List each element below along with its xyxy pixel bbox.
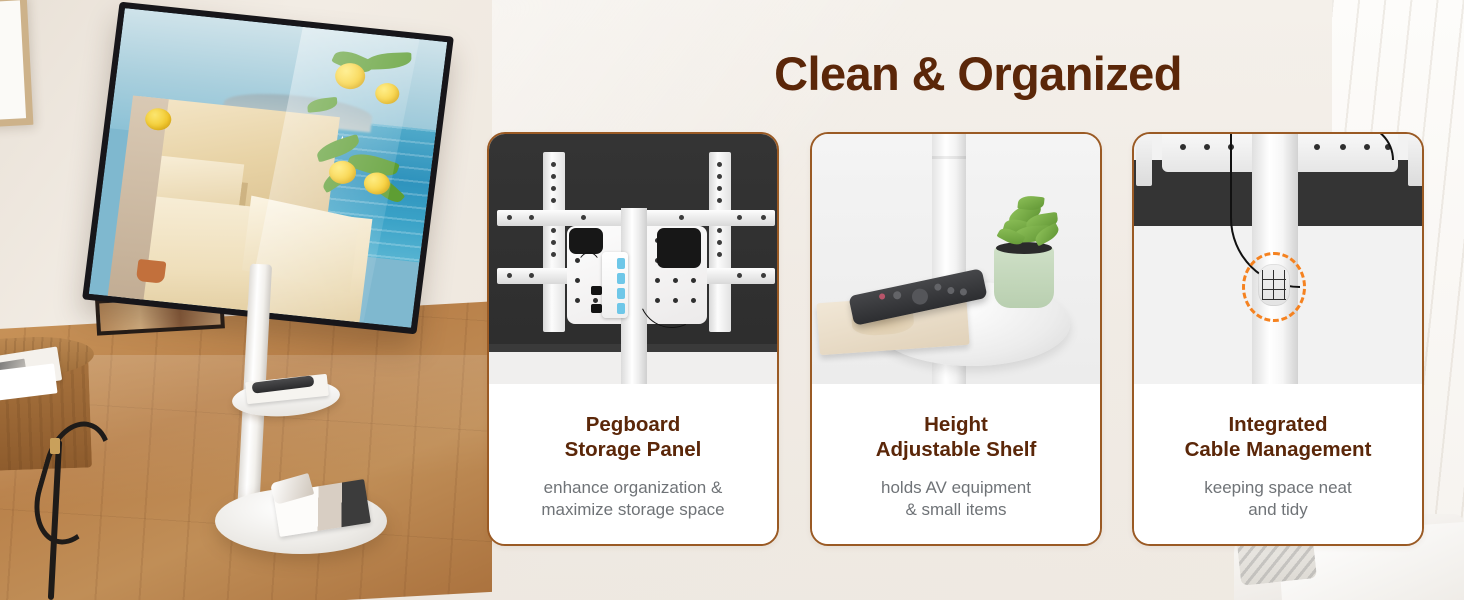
bracket-side-right — [1408, 136, 1422, 186]
card-body-line2: and tidy — [1248, 500, 1308, 519]
card-text-shelf: Height Adjustable Shelf holds AV equipme… — [812, 384, 1100, 546]
power-strip — [602, 252, 628, 318]
feature-cards: Pegboard Storage Panel enhance organizat… — [487, 132, 1427, 546]
card-heading-line1: Integrated — [1228, 413, 1327, 436]
card-heading-shelf: Height Adjustable Shelf — [824, 412, 1088, 463]
infographic-canvas: Clean & Organized — [0, 0, 1464, 600]
card-heading-line1: Pegboard — [586, 413, 681, 436]
card-body-shelf: holds AV equipment & small items — [824, 477, 1088, 521]
card-image-cable — [1134, 134, 1422, 384]
feature-card-cable[interactable]: Integrated Cable Management keeping spac… — [1132, 132, 1424, 546]
table-leg-cap — [50, 438, 60, 454]
card-body-line1: keeping space neat — [1204, 478, 1351, 497]
feature-card-shelf[interactable]: Height Adjustable Shelf holds AV equipme… — [810, 132, 1102, 546]
card-text-pegboard: Pegboard Storage Panel enhance organizat… — [489, 384, 777, 546]
card-heading-line1: Height — [924, 413, 988, 436]
card-body-line1: enhance organization & — [544, 478, 723, 497]
bracket-side-left — [1136, 136, 1152, 186]
card-heading-line2: Cable Management — [1185, 438, 1372, 461]
card-heading-line2: Storage Panel — [565, 438, 702, 461]
card-heading-line2: Adjustable Shelf — [876, 438, 1037, 461]
painting-pot — [136, 259, 167, 284]
card-body-line2: & small items — [905, 500, 1006, 519]
page-title: Clean & Organized — [492, 46, 1464, 101]
card-text-cable: Integrated Cable Management keeping spac… — [1134, 384, 1422, 546]
card-body-cable: keeping space neat and tidy — [1146, 477, 1410, 521]
card-heading-pegboard: Pegboard Storage Panel — [501, 412, 765, 463]
lifestyle-photo — [0, 0, 492, 600]
card-image-pegboard — [489, 134, 777, 384]
shelf-illustration — [812, 134, 1100, 384]
card-heading-cable: Integrated Cable Management — [1146, 412, 1410, 463]
plug-lower — [591, 304, 602, 313]
card-body-line2: maximize storage space — [541, 500, 724, 519]
card-image-shelf — [812, 134, 1100, 384]
cable-illustration — [1134, 134, 1422, 384]
pegboard-illustration — [489, 134, 777, 384]
feature-card-pegboard[interactable]: Pegboard Storage Panel enhance organizat… — [487, 132, 779, 546]
highlight-ring-icon — [1242, 252, 1306, 322]
plant-pot — [994, 246, 1054, 308]
card-body-line1: holds AV equipment — [881, 478, 1031, 497]
power-adapter-left — [569, 228, 603, 254]
routed-cable-top — [1284, 134, 1394, 160]
plant-soil — [996, 242, 1052, 254]
pole-joint — [932, 156, 966, 159]
cable-left — [575, 252, 603, 300]
card-body-pegboard: enhance organization & maximize storage … — [501, 477, 765, 521]
